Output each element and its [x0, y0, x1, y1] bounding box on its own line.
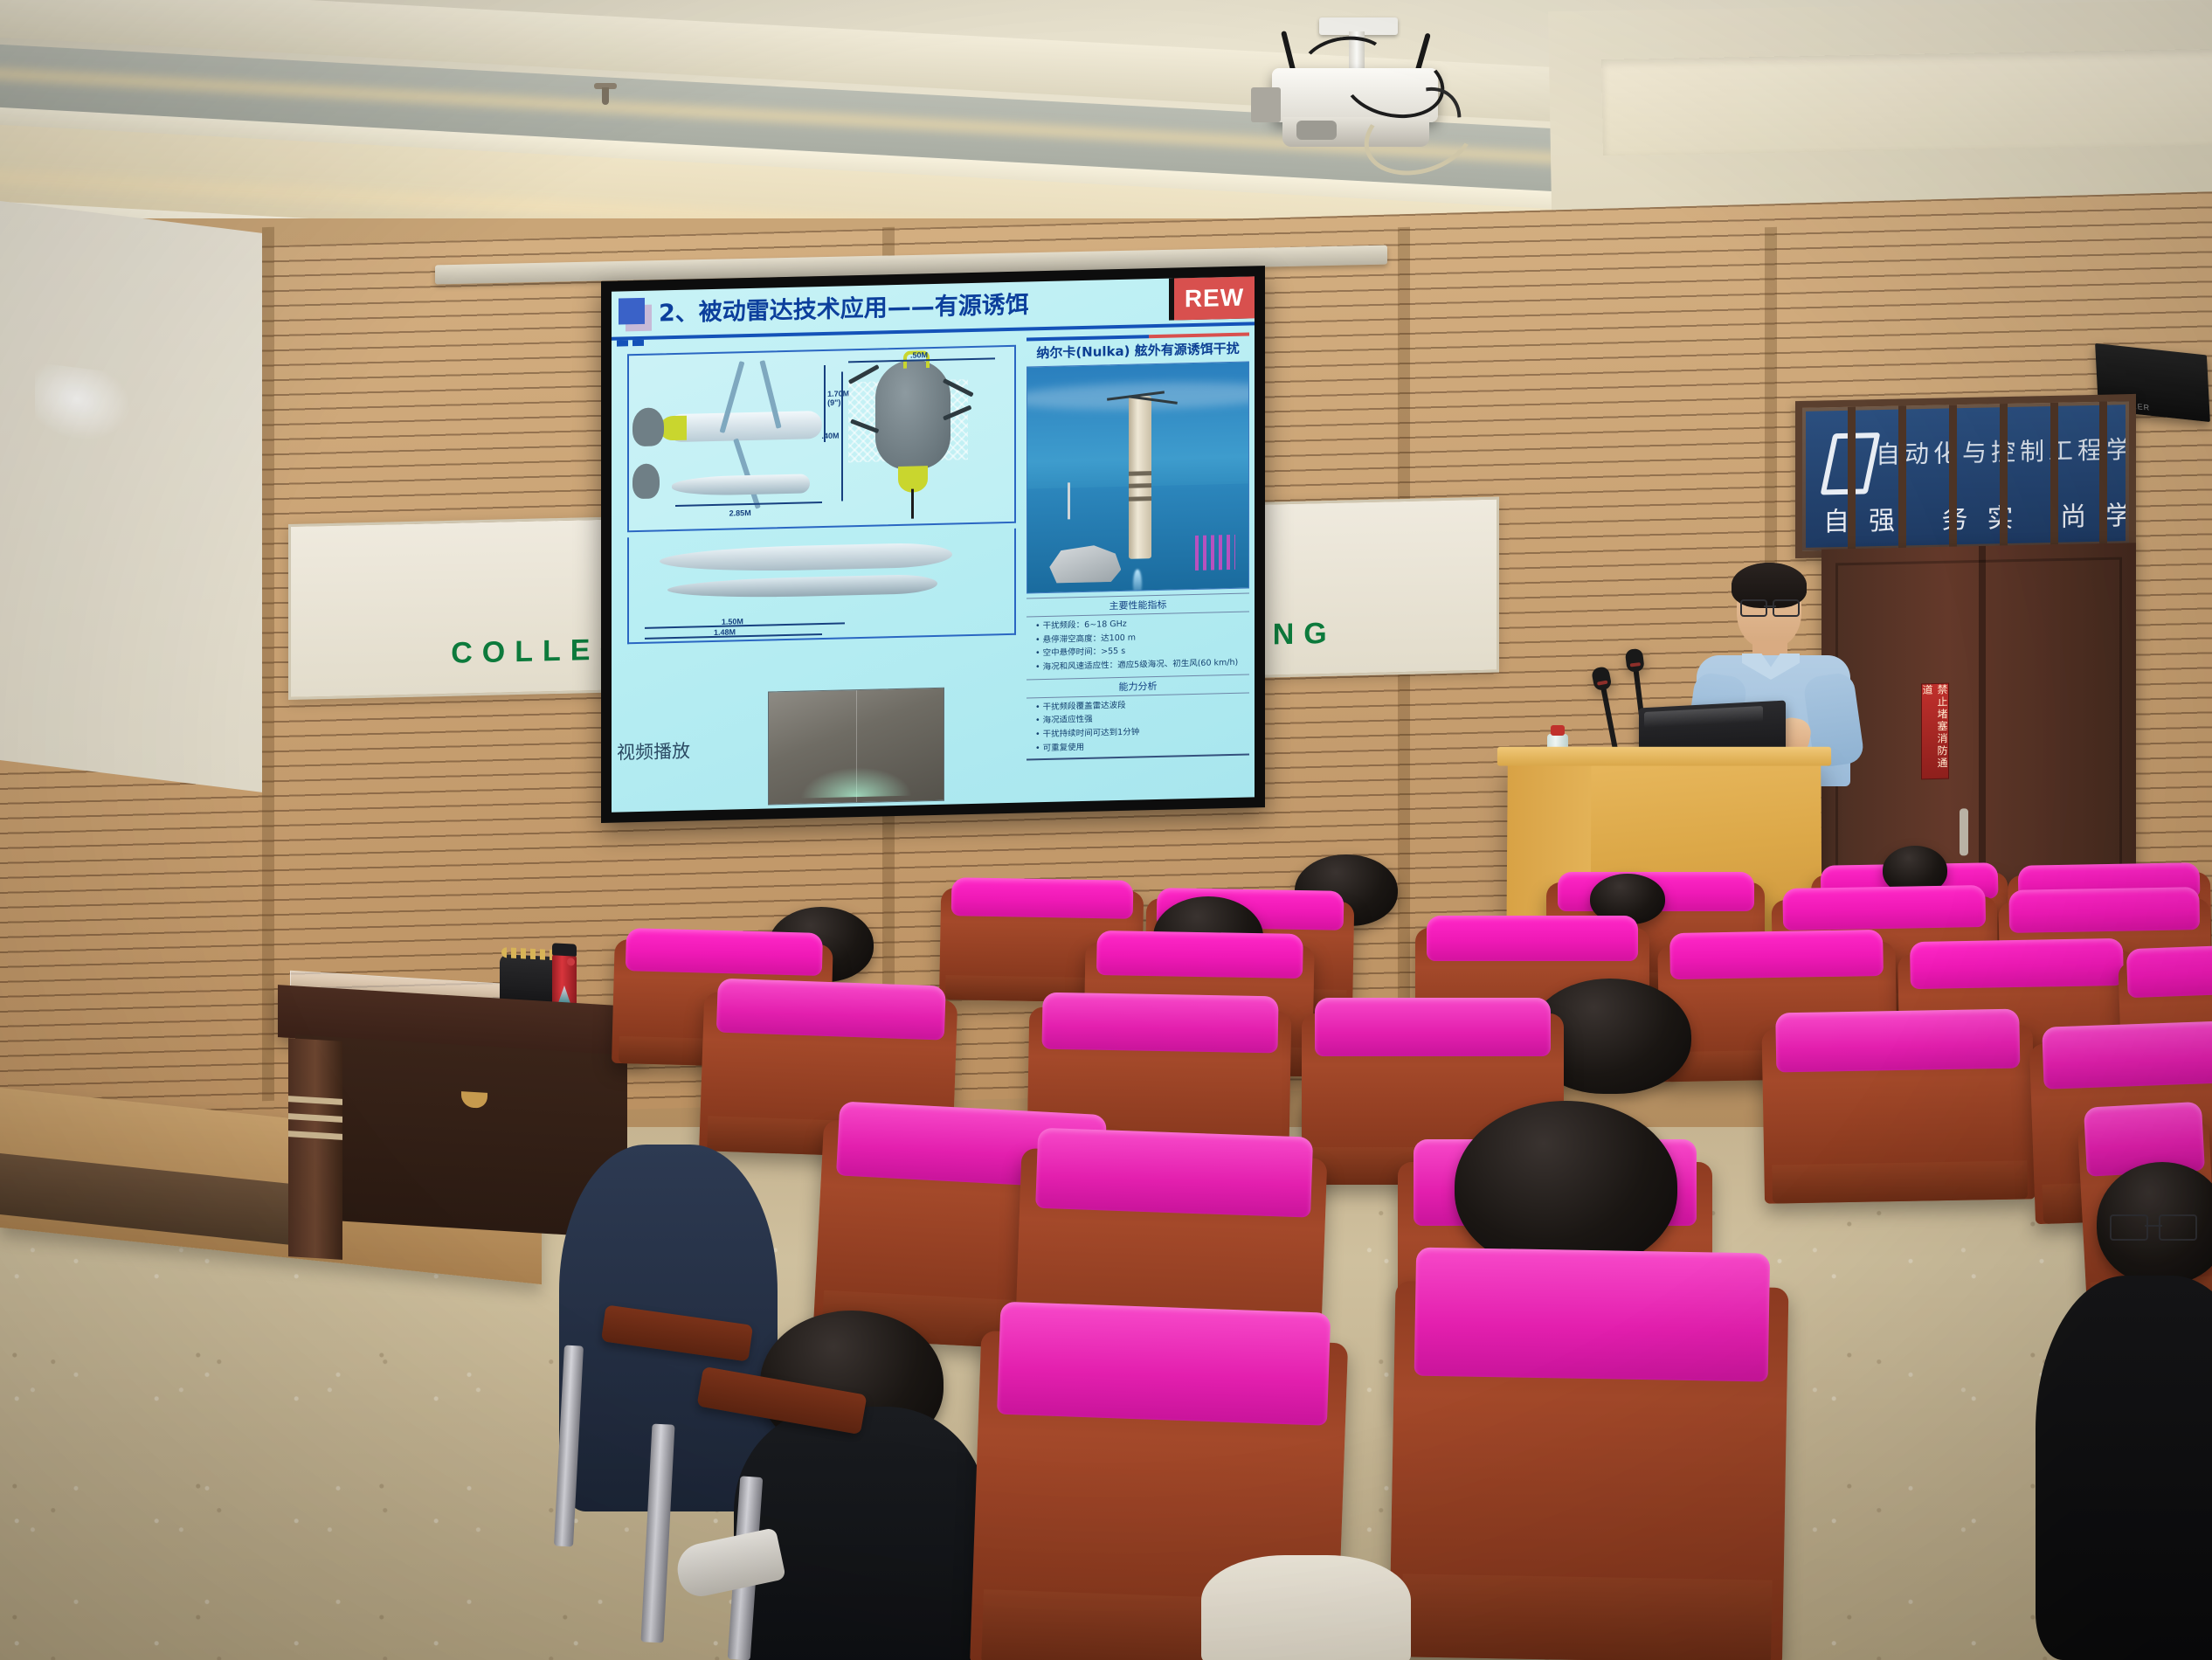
slide-bullet-square-icon — [619, 298, 645, 325]
fire-safety-sign: 禁止堵塞消防通道 — [1921, 683, 1949, 780]
left-wall-panel — [0, 201, 262, 792]
auditorium-seat[interactable] — [1762, 1024, 2036, 1203]
spec-list: 干扰频段：6~18 GHz 悬停滞空高度：达100 m 空中悬停时间：>55 s… — [1027, 615, 1249, 675]
rew-badge: REW — [1174, 276, 1255, 320]
attendee-body — [1201, 1555, 1411, 1660]
dimension-label: .50M — [910, 350, 928, 359]
video-playback-label: 视频播放 — [617, 737, 690, 765]
dimension-label: 1.50M — [722, 617, 743, 626]
fire-sign-text: 禁止堵塞消防通道 — [1920, 684, 1950, 779]
analysis-list: 干扰频段覆盖雷达波段 海况适应性强 干扰持续时间可达到1分钟 可重复使用 — [1027, 695, 1249, 756]
projector — [1258, 33, 1459, 147]
dimension-label: 2.85M — [729, 508, 751, 518]
manufacturer-logo — [1195, 535, 1235, 571]
slide-right-column: 纳尔卡(Nulka) 舷外有源诱饵干扰 主要性能指标 干扰频段：6~18 GHz — [1023, 330, 1255, 802]
analysis-heading: 能力分析 — [1027, 674, 1249, 698]
sprinkler-head-icon — [594, 83, 606, 104]
door-handle[interactable] — [1960, 808, 1968, 855]
vehicle-side-view-diagram: 1.50M 1.48M — [627, 529, 1016, 644]
projector-lens — [1296, 121, 1337, 140]
nulka-decoy-photo — [1027, 362, 1249, 594]
attendee-body — [2036, 1276, 2212, 1660]
slide-title: 2、被动雷达技术应用——有源诱饵 — [659, 285, 1029, 328]
desk-leg — [288, 1038, 342, 1260]
dimension-label: 1.48M — [714, 627, 736, 637]
slide-body: 1.70M (9") 2.85M — [612, 330, 1255, 812]
right-panel-title: 纳尔卡(Nulka) 舷外有源诱饵干扰 — [1027, 339, 1249, 363]
eyeglasses-icon — [1740, 599, 1800, 613]
ceiling-recess — [1548, 0, 2212, 212]
slide-title-bar: 2、被动雷达技术应用——有源诱饵 REW — [612, 276, 1255, 340]
banner-motto: 自强 务实 尚学 进取 — [1823, 491, 2126, 539]
auditorium-seat[interactable] — [1389, 1281, 1788, 1660]
eyeglasses-icon — [2110, 1214, 2197, 1237]
divider — [1027, 754, 1249, 761]
presentation-slide: 2、被动雷达技术应用——有源诱饵 REW — [612, 276, 1255, 812]
decoy-pod — [875, 359, 950, 471]
attendee-head — [1455, 1101, 1677, 1271]
projection-screen: 2、被动雷达技术应用——有源诱饵 REW — [601, 266, 1265, 823]
wall-seam — [262, 227, 274, 1101]
lecture-hall-scene: 计算机学院 COLLEGE OF COMPUTER ENGINEERING 2、… — [0, 0, 2212, 1660]
embedded-video[interactable] — [768, 688, 944, 806]
decoy-dimension-diagram: 1.70M (9") 2.85M — [627, 345, 1016, 532]
spec-heading: 主要性能指标 — [1027, 593, 1249, 618]
dimension-label: .40M — [822, 432, 840, 440]
door-window: 自动化与控制工程学院 自强 务实 尚学 进取 — [1795, 394, 2136, 558]
slide-left-column: 1.70M (9") 2.85M — [612, 336, 1023, 813]
